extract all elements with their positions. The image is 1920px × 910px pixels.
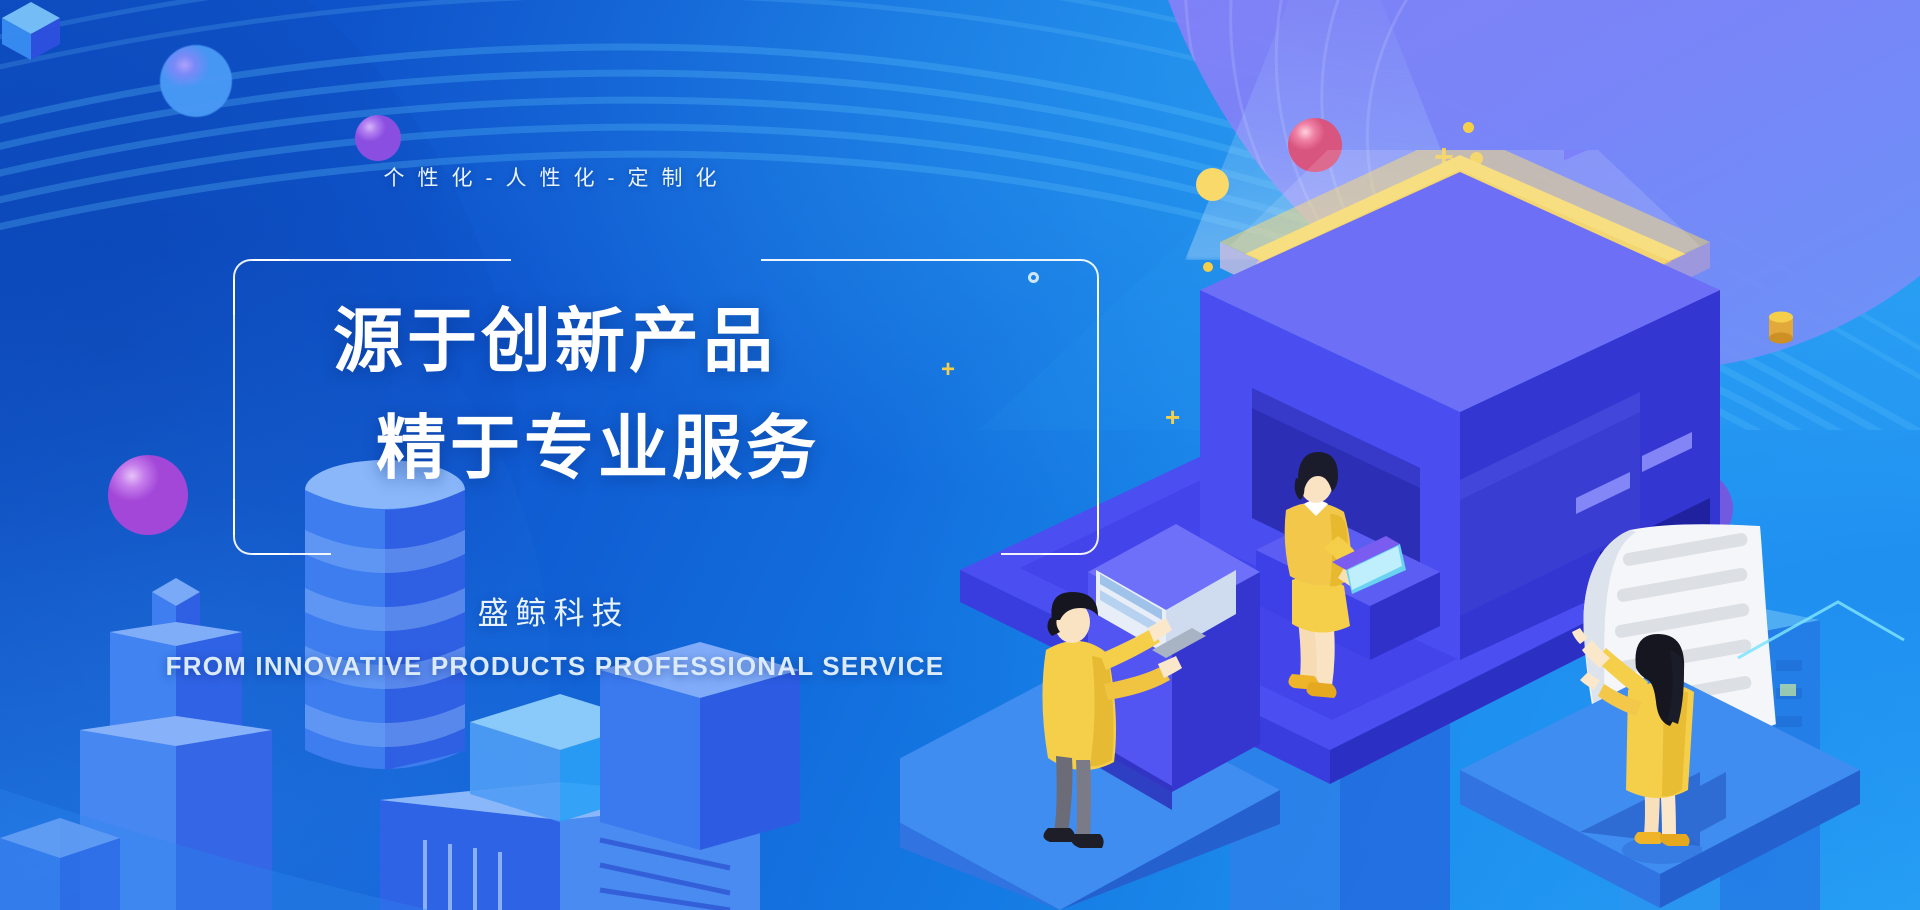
frame-edge-top-right xyxy=(761,259,1043,261)
headline-line-1: 源于创新产品 xyxy=(0,285,1110,386)
hero-banner: + + + + xyxy=(0,0,1920,910)
bubble-decor xyxy=(1463,122,1474,133)
cube-decor xyxy=(0,0,62,62)
frame-edge-top-left xyxy=(253,259,511,261)
frame-corner-bottom-right xyxy=(1043,499,1099,555)
brand-name: 盛鲸科技 xyxy=(0,588,1100,633)
headline-line-2: 精于专业服务 xyxy=(0,392,1110,493)
subtitle-english: FROM INNOVATIVE PRODUCTS PROFESSIONAL SE… xyxy=(0,651,1110,682)
tagline: 个性化-人性化-定制化 xyxy=(0,162,1100,192)
sphere-purple-small-decor xyxy=(355,115,401,161)
frame-edge-bottom-left xyxy=(253,553,331,555)
kiosk-person-illustration xyxy=(900,524,1280,910)
sphere-blue-decor xyxy=(160,45,232,117)
frame-corner-bottom-left xyxy=(233,499,289,555)
